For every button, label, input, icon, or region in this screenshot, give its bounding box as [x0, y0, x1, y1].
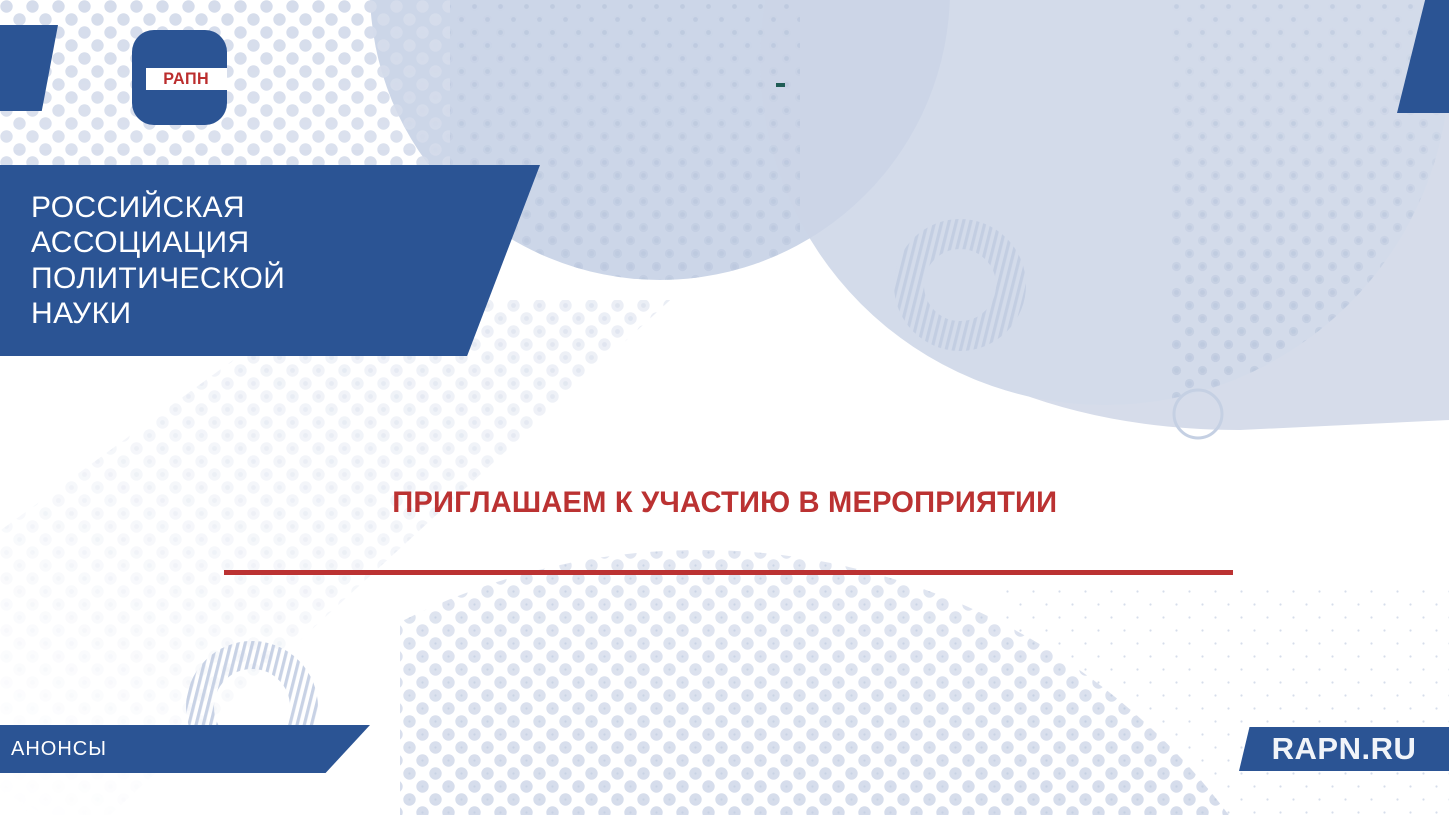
rapn-logo[interactable]: РАПН — [132, 30, 227, 125]
red-divider-rule — [224, 570, 1233, 575]
accent-mark — [776, 83, 785, 87]
category-badge-label: АНОНСЫ — [0, 738, 107, 761]
page-title: ПРИГЛАШАЕМ К УЧАСТИЮ В МЕРОПРИЯТИИ — [0, 486, 1449, 520]
site-url-badge[interactable]: RAPN.RU — [1239, 727, 1449, 771]
category-badge: АНОНСЫ — [0, 725, 370, 773]
halftone-sparse-right — [1000, 590, 1449, 815]
logo-acronym-band: РАПН — [146, 68, 227, 90]
organization-name-banner: РОССИЙСКАЯ АССОЦИАЦИЯ ПОЛИТИЧЕСКОЙ НАУКИ — [0, 165, 540, 356]
logo-acronym-text: РАПН — [164, 69, 210, 89]
poster-canvas: РАПН РОССИЙСКАЯ АССОЦИАЦИЯ ПОЛИТИЧЕСКОЙ … — [0, 0, 1449, 815]
page-title-text: ПРИГЛАШАЕМ К УЧАСТИЮ В МЕРОПРИЯТИИ — [392, 486, 1057, 520]
site-url-label: RAPN.RU — [1272, 731, 1417, 767]
organization-name-text: РОССИЙСКАЯ АССОЦИАЦИЯ ПОЛИТИЧЕСКОЙ НАУКИ — [0, 190, 285, 330]
